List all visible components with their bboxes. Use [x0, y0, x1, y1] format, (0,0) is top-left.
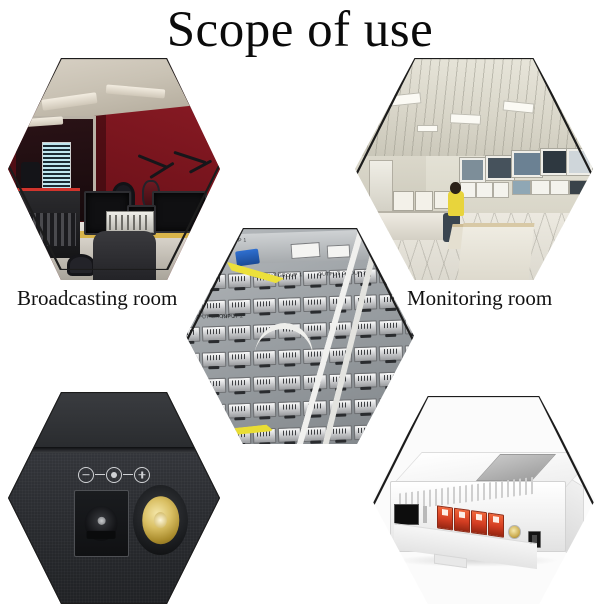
- audio-mixing-console: [106, 211, 155, 233]
- dc-jack-housing: [74, 490, 129, 558]
- studio-speaker: [21, 162, 40, 186]
- polarity-connector-line: [95, 474, 105, 476]
- ceiling-light-panel: [417, 125, 438, 133]
- wall-panel: [512, 180, 531, 195]
- operator-terminal: [415, 191, 434, 211]
- router-device-image: [372, 396, 595, 604]
- ceiling-light-panel: [450, 113, 481, 124]
- router-product-scene: [372, 396, 595, 604]
- scope-of-use-page: Scope of use: [0, 0, 600, 609]
- monitoring-room-image: [355, 58, 593, 280]
- wall-panel: [569, 180, 588, 195]
- control-desk-front: [456, 223, 534, 280]
- rj45-port: [488, 513, 504, 538]
- rj45-port: [471, 510, 487, 535]
- office-chair: [93, 231, 157, 280]
- broadcast-studio-scene: [8, 58, 220, 280]
- broadcast-control-console: [8, 188, 80, 258]
- polarity-connector-line: [123, 474, 133, 476]
- distribution-board-scene: GROUP 1 OUTPUT GROUP 1 OUTPUT GROUP 2 IN…: [186, 228, 414, 444]
- wall-panel: [493, 182, 509, 197]
- suspended-ceiling: [355, 58, 593, 156]
- enclosure-top-face: [8, 392, 220, 447]
- board-printed-label: GROUP 1: [222, 237, 247, 244]
- wall-monitor: [567, 149, 592, 175]
- minus-ring-icon: [78, 467, 94, 483]
- sma-antenna-connector: [142, 496, 179, 544]
- headphones-on-desk: [67, 254, 94, 276]
- equipment-rack: [42, 142, 72, 193]
- operator-head: [450, 182, 460, 194]
- power-connector-closeup-photo: [8, 392, 220, 604]
- device-rear-panel-scene: [8, 392, 220, 604]
- computer-monitor: [152, 191, 207, 233]
- wall-panel: [531, 180, 550, 195]
- rj45-port: [437, 506, 453, 531]
- plus-ring-icon: [134, 467, 150, 483]
- sma-connector-bezel: [133, 485, 188, 555]
- patch-panel-image: GROUP 1 OUTPUT GROUP 1 OUTPUT GROUP 2 IN…: [186, 228, 414, 444]
- wall-monitor: [460, 158, 485, 182]
- dc-power-jack: [85, 506, 118, 540]
- wall-panel: [476, 182, 492, 197]
- monitoring-room-photo: [355, 58, 593, 280]
- wall-panel: [550, 180, 569, 195]
- broadcasting-room-image: [8, 58, 220, 280]
- center-pin-ring-icon: [106, 467, 122, 483]
- page-title: Scope of use: [0, 2, 600, 58]
- rj45-port: [454, 508, 470, 533]
- power-connector-image: [8, 392, 220, 604]
- patch-panel-photo: GROUP 1 OUTPUT GROUP 1 OUTPUT GROUP 2 IN…: [186, 228, 414, 444]
- router-device-photo: [372, 396, 595, 604]
- orange-component: [207, 241, 218, 252]
- router-console-port: [394, 504, 418, 525]
- control-room-scene: [355, 58, 593, 280]
- seated-operator: [448, 191, 465, 215]
- router-reset-slot: [423, 506, 427, 523]
- operator-terminal: [393, 191, 414, 211]
- polarity-symbol: [78, 466, 150, 483]
- wall-monitor: [541, 149, 569, 175]
- caption-monitoring-room: Monitoring room: [407, 286, 552, 310]
- wall-monitor: [486, 156, 514, 180]
- wall-monitor: [512, 151, 542, 177]
- caption-broadcasting-room: Broadcasting room: [17, 286, 177, 310]
- broadcasting-room-photo: [8, 58, 220, 280]
